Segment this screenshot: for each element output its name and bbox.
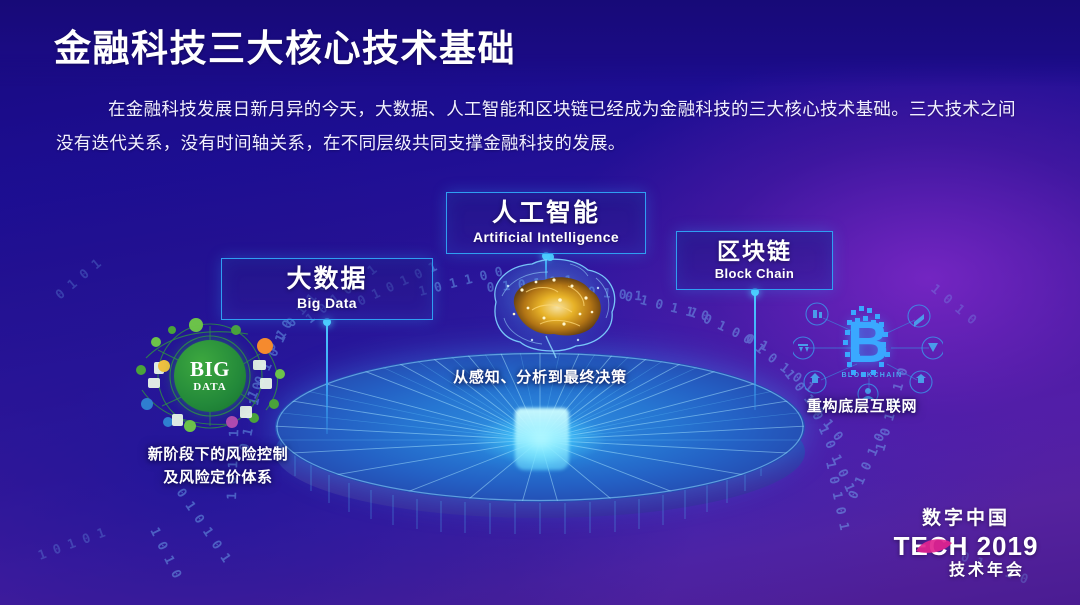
- connector-big-data: [326, 322, 328, 434]
- pillar-ai-cn: 人工智能: [447, 193, 645, 228]
- svg-text:0 1 0 1 0 1: 0 1 0 1 0 1: [808, 410, 857, 495]
- pillar-box-block-chain[interactable]: 区块链 Block Chain: [676, 231, 833, 290]
- big-data-icon-cluster: BIG DATA: [128, 318, 293, 433]
- svg-text:0 1 0 1 1 0: 0 1 0 1 1 0: [623, 289, 710, 324]
- svg-text:0 1 0 1 0 1: 0 1 0 1 0 1: [173, 486, 234, 566]
- big-data-badge-secondary: DATA: [193, 380, 227, 394]
- big-data-badge: BIG DATA: [174, 340, 246, 412]
- blockchain-icon-cluster: B BLOCKCHAIN: [793, 300, 943, 400]
- caption-block-chain: 重构底层互联网: [762, 395, 962, 416]
- caption-big-data: 新阶段下的风险控制 及风险定价体系: [108, 443, 328, 489]
- ai-brain-icon: [474, 252, 626, 360]
- caption-artificial-intelligence: 从感知、分析到最终决策: [430, 366, 650, 387]
- svg-text:1 0 1 0 0 1: 1 0 1 0 0 1: [686, 305, 771, 355]
- brain-graphic: [474, 252, 626, 360]
- slide-canvas: 1 0 1 0 1 0 0 1 0 1 1 0 1 0 1 0 0 1 0 1 …: [0, 0, 1080, 605]
- pillar-big-data-en: Big Data: [222, 294, 432, 313]
- svg-text:0 1 0 1 0: 0 1 0 1 0: [846, 431, 888, 502]
- pillar-box-big-data[interactable]: 大数据 Big Data: [221, 258, 433, 320]
- pillar-big-data-cn: 大数据: [222, 259, 432, 294]
- page-title: 金融科技三大核心技术基础: [54, 18, 516, 72]
- caption-big-data-line1: 新阶段下的风险控制: [108, 443, 328, 466]
- disc-core-pillar: [515, 408, 569, 470]
- pillar-block-chain-en: Block Chain: [677, 265, 832, 283]
- blockchain-letter-b: B: [847, 314, 891, 376]
- connector-block-chain: [754, 292, 756, 410]
- pillar-ai-en: Artificial Intelligence: [447, 228, 645, 247]
- body-paragraph: 在金融科技发展日新月异的今天，大数据、人工智能和区块链已经成为金融科技的三大核心…: [56, 92, 1024, 160]
- event-logo: 数字中国 TECH 2019 技术年会: [886, 507, 1046, 581]
- caption-big-data-line2: 及风险定价体系: [108, 466, 328, 489]
- logo-tech-2019: TECH 2019: [886, 531, 1046, 561]
- svg-text:1 0 1 0 1: 1 0 1 0 1: [36, 526, 107, 564]
- logo-tech-2019-text: TECH 2019: [894, 531, 1039, 561]
- blockchain-wordmark: BLOCKCHAIN: [830, 372, 914, 379]
- svg-text:1 0 1 0 1: 1 0 1 0 1: [822, 460, 851, 532]
- pillar-box-artificial-intelligence[interactable]: 人工智能 Artificial Intelligence: [446, 192, 646, 254]
- pillar-block-chain-cn: 区块链: [677, 232, 832, 265]
- logo-line-digital-china: 数字中国: [886, 507, 1046, 531]
- big-data-badge-primary: BIG: [190, 359, 230, 380]
- logo-line-annual-conference: 技术年会: [928, 561, 1046, 581]
- svg-text:0 1 0 1: 0 1 0 1: [53, 256, 105, 303]
- svg-text:1 0 1 0: 1 0 1 0: [146, 525, 184, 581]
